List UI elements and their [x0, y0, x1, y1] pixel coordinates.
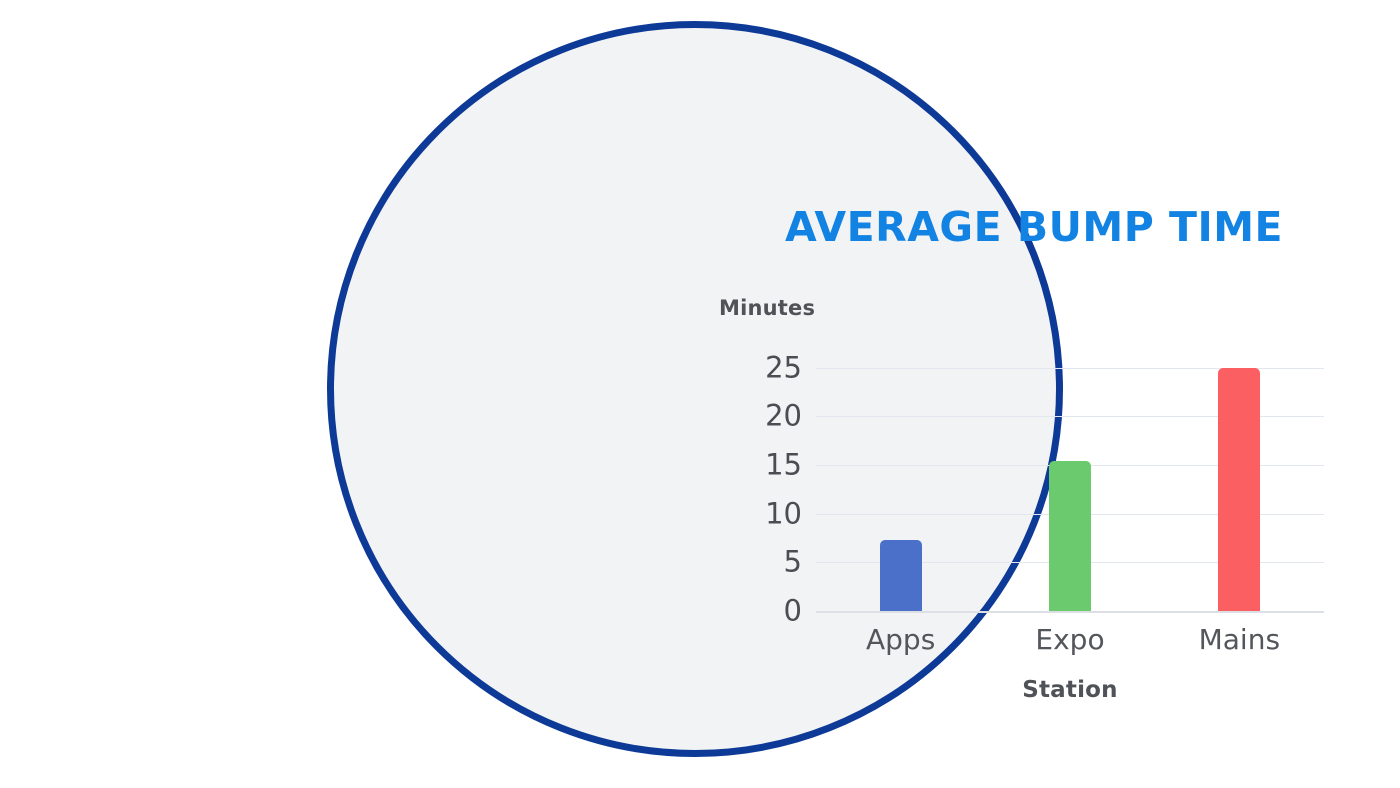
axis-baseline	[816, 611, 1324, 613]
y-tick-label: 10	[765, 499, 802, 528]
x-tick-label: Mains	[1199, 626, 1280, 654]
plot-area: 0510152025 AppsExpoMains Station	[816, 353, 1324, 611]
y-tick-label: 25	[765, 353, 802, 382]
chart-title: AVERAGE BUMP TIME	[694, 203, 1374, 251]
y-tick-label: 5	[784, 548, 802, 577]
y-tick-label: 20	[765, 402, 802, 431]
bar-chart: AVERAGE BUMP TIME Minutes 0510152025 App…	[694, 178, 1374, 738]
x-tick-label: Expo	[1035, 626, 1104, 654]
bar-apps[interactable]	[880, 540, 922, 611]
y-tick-label: 15	[765, 450, 802, 479]
x-tick-label: Apps	[866, 626, 935, 654]
bar-expo[interactable]	[1049, 461, 1091, 611]
circular-badge-frame: AVERAGE BUMP TIME Minutes 0510152025 App…	[327, 21, 1063, 757]
y-tick-label: 0	[784, 597, 802, 626]
y-axis-title: Minutes	[719, 296, 815, 320]
x-axis-title: Station	[816, 677, 1324, 703]
bars-container	[816, 353, 1324, 611]
bar-mains[interactable]	[1218, 368, 1260, 611]
